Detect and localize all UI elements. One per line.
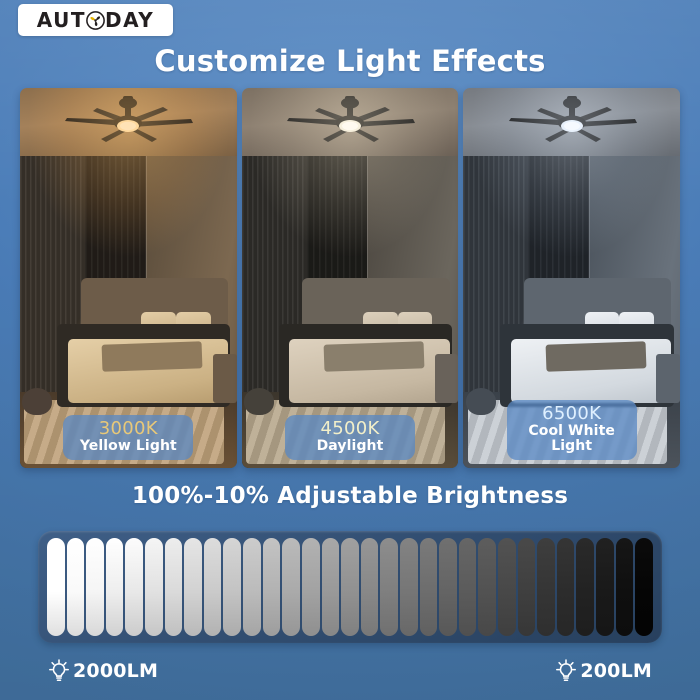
brand-logo: AUT DAY [18, 4, 173, 36]
brightness-step-bar[interactable] [341, 538, 359, 636]
fan-blade-icon [86, 11, 105, 30]
brightness-step-bar[interactable] [243, 538, 261, 636]
brightness-step-bar[interactable] [596, 538, 614, 636]
brightness-step-bar[interactable] [361, 538, 379, 636]
status-badge: 3000K Yellow Light [63, 415, 193, 460]
bed-throw [324, 341, 425, 371]
kelvin-value: 6500K [521, 404, 623, 423]
product-infographic: AUT DAY Customize Light Effects [0, 0, 700, 700]
floor-pouf [244, 388, 274, 415]
brand-name-right: DAY [105, 10, 154, 30]
brightness-step-bar[interactable] [576, 538, 594, 636]
bedroom-scene-warm [20, 88, 237, 468]
brightness-step-bar[interactable] [223, 538, 241, 636]
lumen-max: 2000LM [48, 659, 158, 683]
nightstand [435, 354, 459, 403]
light-panel-6500k[interactable]: 6500K Cool White Light [463, 88, 680, 468]
nightstand [213, 354, 237, 403]
kelvin-label: Cool White Light [521, 424, 623, 454]
lumen-min: 200LM [555, 659, 652, 683]
status-badge: 6500K Cool White Light [507, 400, 637, 460]
ceiling-fan-icon [39, 94, 217, 156]
brightness-step-bar[interactable] [86, 538, 104, 636]
bed-throw [545, 341, 646, 371]
bedroom-scene-neutral [242, 88, 459, 468]
ceiling-fan-icon [483, 94, 661, 156]
brightness-step-bar[interactable] [616, 538, 634, 636]
brightness-step-bar[interactable] [67, 538, 85, 636]
kelvin-value: 3000K [77, 419, 179, 438]
brightness-step-bar[interactable] [302, 538, 320, 636]
brightness-step-bar[interactable] [459, 538, 477, 636]
page-title: Customize Light Effects [0, 44, 700, 78]
floor-pouf [22, 388, 52, 415]
lumen-min-label: 200LM [580, 660, 652, 682]
brightness-step-bar[interactable] [322, 538, 340, 636]
light-panel-3000k[interactable]: 3000K Yellow Light [20, 88, 237, 468]
brightness-step-bar[interactable] [537, 538, 555, 636]
floor-pouf [466, 388, 496, 415]
brand-name-left: AUT [37, 10, 86, 30]
brightness-step-bar[interactable] [400, 538, 418, 636]
brightness-gradient-bar[interactable] [38, 531, 662, 643]
brightness-step-bar[interactable] [518, 538, 536, 636]
brightness-step-bar[interactable] [420, 538, 438, 636]
ceiling-fan-icon [261, 94, 439, 156]
brightness-step-bar[interactable] [204, 538, 222, 636]
status-badge: 4500K Daylight [285, 415, 415, 460]
brightness-step-bar[interactable] [439, 538, 457, 636]
brightness-step-bar[interactable] [635, 538, 653, 636]
nightstand [656, 354, 680, 403]
brightness-step-bar[interactable] [282, 538, 300, 636]
bed-throw [102, 341, 203, 371]
light-bulb-icon [555, 659, 577, 683]
brightness-heading: 100%-10% Adjustable Brightness [0, 483, 700, 509]
brightness-step-bar[interactable] [106, 538, 124, 636]
brightness-step-bar[interactable] [47, 538, 65, 636]
kelvin-label: Yellow Light [77, 439, 179, 454]
kelvin-label: Daylight [299, 439, 401, 454]
light-effect-panels: 3000K Yellow Light [20, 88, 680, 468]
brightness-step-bar[interactable] [165, 538, 183, 636]
light-panel-4500k[interactable]: 4500K Daylight [242, 88, 459, 468]
brightness-step-bar[interactable] [145, 538, 163, 636]
brightness-step-bar[interactable] [557, 538, 575, 636]
brightness-step-bar[interactable] [263, 538, 281, 636]
light-bulb-icon [48, 659, 70, 683]
lumen-max-label: 2000LM [73, 660, 158, 682]
brightness-step-bar[interactable] [498, 538, 516, 636]
brightness-step-bar[interactable] [125, 538, 143, 636]
brightness-step-bar[interactable] [478, 538, 496, 636]
brightness-step-bar[interactable] [184, 538, 202, 636]
brightness-step-bar[interactable] [380, 538, 398, 636]
kelvin-value: 4500K [299, 419, 401, 438]
